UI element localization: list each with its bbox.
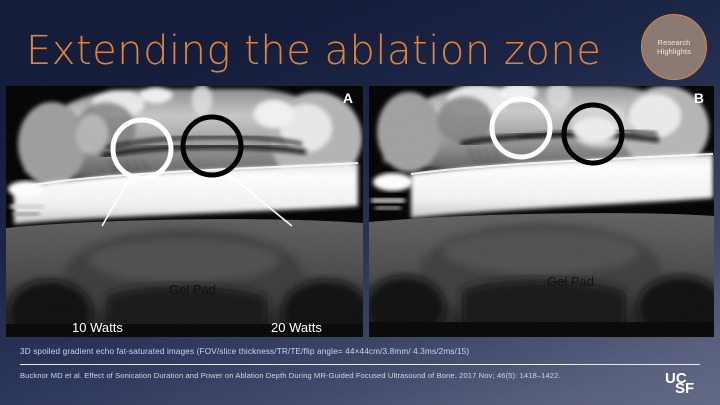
badge-line-2: Highlights	[657, 47, 691, 56]
citation-text: Bucknor MD et al. Effect of Sonication D…	[20, 370, 620, 382]
footer-divider	[20, 364, 700, 365]
ucsf-logo-sf: SF	[675, 380, 694, 396]
mri-panel-b[interactable]: B Gel Pad Transducer	[369, 86, 714, 337]
annotation-label-left-a: 10 Watts 40 seconds	[72, 320, 139, 337]
methods-caption: 3D spoiled gradient echo fat-saturated i…	[20, 347, 469, 356]
page-title: Extending the ablation zone	[26, 28, 601, 74]
annotation-right-line-1: 20 Watts	[271, 320, 338, 335]
gel-pad-label-a: Gel Pad	[169, 282, 216, 297]
mri-image-a	[6, 86, 363, 337]
mri-panel-a[interactable]: A Gel Pad Transducer 10 Watts 40 seconds…	[6, 86, 363, 337]
annotation-left-line-1: 10 Watts	[72, 320, 139, 335]
panel-letter-a: A	[343, 90, 353, 106]
annotation-left-line-2: 40 seconds	[72, 335, 139, 337]
annotation-right-line-2: 20 seconds	[271, 335, 338, 337]
annotation-label-right-a: 20 Watts 20 seconds	[271, 320, 338, 337]
ucsf-logo: UC SF	[665, 370, 711, 396]
gel-pad-label-b: Gel Pad	[547, 274, 594, 289]
panel-letter-b: B	[694, 90, 704, 106]
mri-image-b	[369, 86, 714, 337]
badge-line-1: Research	[658, 38, 691, 47]
research-highlights-badge[interactable]: Research Highlights	[641, 14, 707, 80]
